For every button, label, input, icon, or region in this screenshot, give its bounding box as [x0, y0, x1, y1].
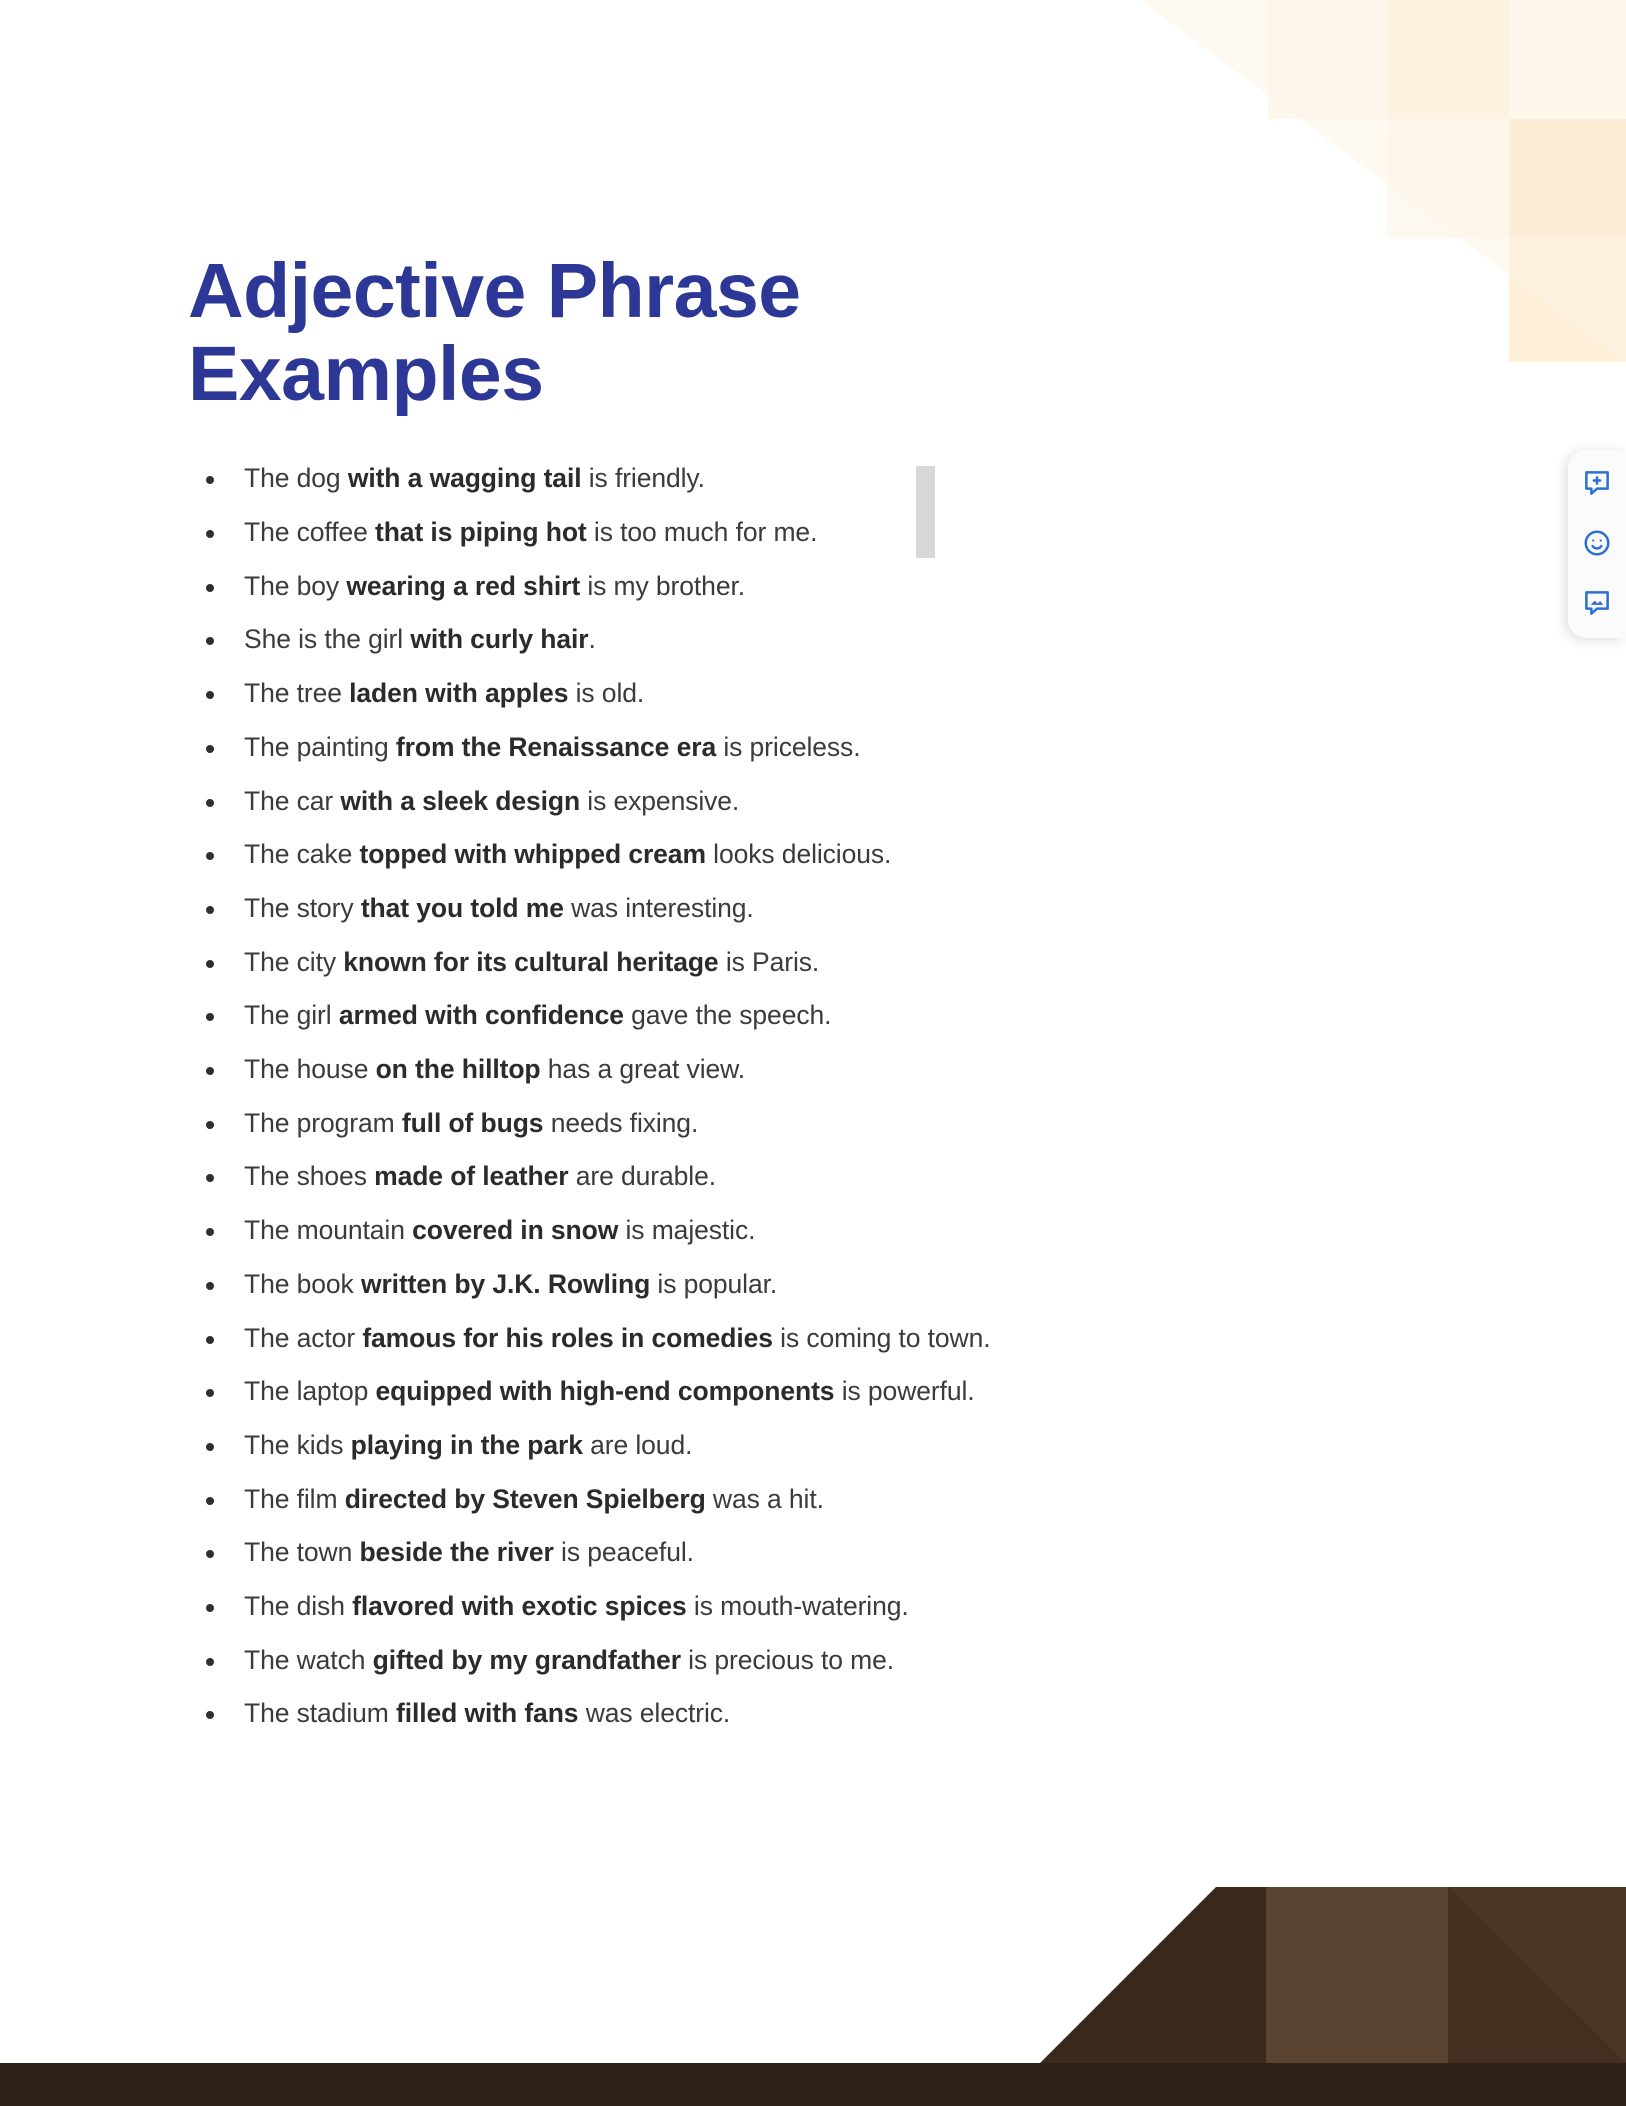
list-item: The stadium filled with fans was electri…	[188, 1687, 1368, 1741]
image-comment-icon[interactable]	[1580, 586, 1614, 620]
list-item: The watch gifted by my grandfather is pr…	[188, 1634, 1368, 1688]
adjective-phrase: known for its cultural heritage	[343, 947, 718, 977]
adjective-phrase: beside the river	[359, 1537, 553, 1567]
example-suffix: has a great view.	[541, 1054, 745, 1084]
adjective-phrase: playing in the park	[351, 1430, 583, 1460]
example-prefix: The laptop	[244, 1376, 376, 1406]
example-suffix: was electric.	[578, 1698, 730, 1728]
example-suffix: is my brother.	[580, 571, 745, 601]
adjective-phrase: from the Renaissance era	[396, 732, 716, 762]
adjective-phrase: written by J.K. Rowling	[361, 1269, 650, 1299]
adjective-phrase: directed by Steven Spielberg	[345, 1484, 706, 1514]
example-prefix: She is the girl	[244, 624, 410, 654]
example-prefix: The dish	[244, 1591, 352, 1621]
example-prefix: The watch	[244, 1645, 373, 1675]
deco-block-shade	[1448, 1887, 1626, 2063]
example-prefix: The mountain	[244, 1215, 412, 1245]
deco-cell	[1387, 0, 1509, 119]
floating-comment-toolbar	[1568, 450, 1626, 638]
example-prefix: The city	[244, 947, 343, 977]
example-prefix: The film	[244, 1484, 345, 1514]
list-item: The boy wearing a red shirt is my brothe…	[188, 560, 1368, 614]
adjective-phrase: equipped with high-end components	[376, 1376, 835, 1406]
example-suffix: is friendly.	[581, 463, 704, 493]
list-item: The mountain covered in snow is majestic…	[188, 1204, 1368, 1258]
example-suffix: are durable.	[568, 1161, 716, 1191]
adjective-phrase: filled with fans	[396, 1698, 578, 1728]
example-prefix: The town	[244, 1537, 359, 1567]
list-item: The actor famous for his roles in comedi…	[188, 1312, 1368, 1366]
adjective-phrase: made of leather	[374, 1161, 568, 1191]
list-item: She is the girl with curly hair.	[188, 613, 1368, 667]
example-prefix: The tree	[244, 678, 349, 708]
example-prefix: The program	[244, 1108, 402, 1138]
emoji-reaction-icon[interactable]	[1580, 526, 1614, 560]
list-item: The dog with a wagging tail is friendly.	[188, 452, 1368, 506]
adjective-phrase: flavored with exotic spices	[352, 1591, 687, 1621]
text-caret	[916, 466, 935, 558]
adjective-phrase: topped with whipped cream	[359, 839, 705, 869]
example-prefix: The house	[244, 1054, 376, 1084]
deco-cell	[1387, 119, 1509, 238]
add-comment-icon[interactable]	[1580, 466, 1614, 500]
example-prefix: The cake	[244, 839, 359, 869]
list-item: The cake topped with whipped cream looks…	[188, 828, 1368, 882]
deco-block	[1448, 1887, 1626, 2063]
example-prefix: The painting	[244, 732, 396, 762]
example-prefix: The story	[244, 893, 361, 923]
adjective-phrase: gifted by my grandfather	[373, 1645, 681, 1675]
example-suffix: is peaceful.	[554, 1537, 694, 1567]
example-prefix: The girl	[244, 1000, 339, 1030]
example-suffix: is Paris.	[719, 947, 820, 977]
example-suffix: is coming to town.	[773, 1323, 991, 1353]
example-suffix: needs fixing.	[543, 1108, 698, 1138]
page-title: Adjective Phrase Examples	[188, 250, 1018, 416]
example-suffix: is majestic.	[618, 1215, 755, 1245]
example-prefix: The car	[244, 786, 340, 816]
adjective-phrase: full of bugs	[402, 1108, 544, 1138]
list-item: The book written by J.K. Rowling is popu…	[188, 1258, 1368, 1312]
example-suffix: is powerful.	[834, 1376, 974, 1406]
example-suffix: is expensive.	[580, 786, 739, 816]
deco-cell	[1509, 0, 1626, 119]
example-suffix: looks delicious.	[706, 839, 891, 869]
document-page: Adjective Phrase Examples The dog with a…	[0, 0, 1626, 2106]
list-item: The tree laden with apples is old.	[188, 667, 1368, 721]
list-item: The painting from the Renaissance era is…	[188, 721, 1368, 775]
deco-cell	[1509, 238, 1626, 362]
deco-block	[1266, 1887, 1448, 2063]
example-suffix: is too much for me.	[587, 517, 818, 547]
example-suffix: is popular.	[650, 1269, 777, 1299]
adjective-phrase: wearing a red shirt	[346, 571, 580, 601]
example-prefix: The dog	[244, 463, 348, 493]
example-suffix: was interesting.	[564, 893, 754, 923]
adjective-phrase: on the hilltop	[376, 1054, 541, 1084]
example-prefix: The coffee	[244, 517, 375, 547]
example-suffix: are loud.	[583, 1430, 693, 1460]
deco-cell	[1268, 0, 1387, 119]
bottom-bar	[0, 2063, 1626, 2106]
list-item: The car with a sleek design is expensive…	[188, 775, 1368, 829]
deco-wedge	[1040, 1887, 1266, 2063]
example-prefix: The actor	[244, 1323, 362, 1353]
example-suffix: is mouth-watering.	[687, 1591, 909, 1621]
list-item: The laptop equipped with high-end compon…	[188, 1365, 1368, 1419]
document-content: Adjective Phrase Examples The dog with a…	[188, 250, 1368, 1741]
list-item: The program full of bugs needs fixing.	[188, 1097, 1368, 1151]
list-item: The dish flavored with exotic spices is …	[188, 1580, 1368, 1634]
deco-cell	[1509, 119, 1626, 238]
adjective-phrase: that is piping hot	[375, 517, 587, 547]
list-item: The girl armed with confidence gave the …	[188, 989, 1368, 1043]
examples-list: The dog with a wagging tail is friendly.…	[188, 452, 1368, 1741]
adjective-phrase: laden with apples	[349, 678, 568, 708]
example-prefix: The stadium	[244, 1698, 396, 1728]
example-suffix: was a hit.	[706, 1484, 824, 1514]
example-suffix: gave the speech.	[624, 1000, 832, 1030]
adjective-phrase: with a wagging tail	[348, 463, 582, 493]
adjective-phrase: with curly hair	[410, 624, 588, 654]
example-prefix: The boy	[244, 571, 346, 601]
example-suffix: is old.	[568, 678, 644, 708]
list-item: The film directed by Steven Spielberg wa…	[188, 1473, 1368, 1527]
example-prefix: The shoes	[244, 1161, 374, 1191]
list-item: The city known for its cultural heritage…	[188, 936, 1368, 990]
adjective-phrase: that you told me	[361, 893, 564, 923]
list-item: The town beside the river is peaceful.	[188, 1526, 1368, 1580]
list-item: The house on the hilltop has a great vie…	[188, 1043, 1368, 1097]
example-suffix: .	[588, 624, 595, 654]
adjective-phrase: covered in snow	[412, 1215, 618, 1245]
adjective-phrase: with a sleek design	[340, 786, 580, 816]
example-suffix: is precious to me.	[681, 1645, 894, 1675]
example-prefix: The book	[244, 1269, 361, 1299]
list-item: The kids playing in the park are loud.	[188, 1419, 1368, 1473]
bottom-right-decoration	[1040, 1887, 1626, 2063]
adjective-phrase: armed with confidence	[339, 1000, 624, 1030]
example-prefix: The kids	[244, 1430, 351, 1460]
list-item: The story that you told me was interesti…	[188, 882, 1368, 936]
adjective-phrase: famous for his roles in comedies	[362, 1323, 773, 1353]
example-suffix: is priceless.	[716, 732, 860, 762]
list-item: The shoes made of leather are durable.	[188, 1150, 1368, 1204]
list-item: The coffee that is piping hot is too muc…	[188, 506, 1368, 560]
